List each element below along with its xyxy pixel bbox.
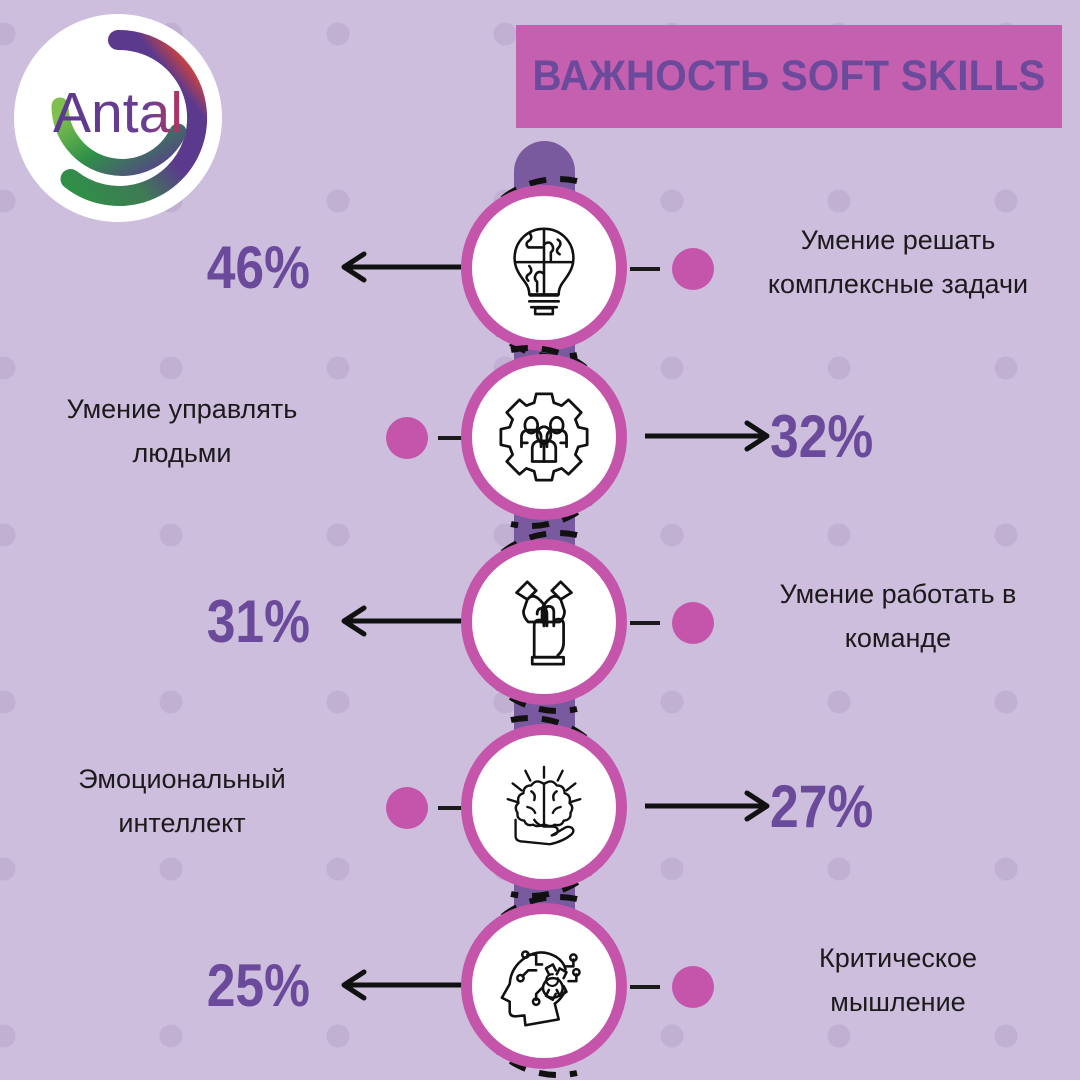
- bullet-dot: [672, 602, 714, 644]
- stat-label-line2: комплексные задачи: [748, 262, 1048, 306]
- teamwork-hands-icon: [495, 573, 593, 671]
- bullet-right-3: [626, 602, 756, 644]
- stat-label-5: Критическое мышление: [748, 936, 1048, 1024]
- stat-row-2: 32%: [0, 339, 1080, 529]
- stat-label-2: Умение управлять людьми: [32, 387, 332, 475]
- stat-label-line1: Эмоциональный: [32, 757, 332, 801]
- antal-logo: Antal: [14, 14, 222, 222]
- icon-medallion-3[interactable]: [461, 539, 627, 705]
- icon-medallion-1[interactable]: [461, 185, 627, 351]
- stat-label-line2: команде: [748, 616, 1048, 660]
- bullet-dot: [672, 966, 714, 1008]
- arrow-right-2: [645, 419, 775, 453]
- icon-medallion-2[interactable]: [461, 354, 627, 520]
- head-gear-circuit-icon: [495, 937, 593, 1035]
- antal-logo-mark: Antal: [14, 14, 222, 222]
- brain-in-hand-icon: [495, 758, 593, 856]
- stat-label-line2: мышление: [748, 980, 1048, 1024]
- stat-percent-5: 25%: [129, 944, 310, 1028]
- stat-percent-3: 31%: [129, 580, 310, 664]
- stat-label-line1: Умение решать: [748, 218, 1048, 262]
- arrow-left-1: [336, 250, 466, 284]
- stat-label-line2: интеллект: [32, 801, 332, 845]
- stat-percent-2: 32%: [770, 395, 951, 479]
- gear-people-icon: [495, 388, 593, 486]
- stat-label-line1: Критическое: [748, 936, 1048, 980]
- stat-row-4: 27%: [0, 709, 1080, 899]
- icon-medallion-5[interactable]: [461, 903, 627, 1069]
- stat-percent-4: 27%: [770, 765, 951, 849]
- title-band: ВАЖНОСТЬ SOFT SKILLS: [516, 25, 1062, 128]
- stat-label-1: Умение решать комплексные задачи: [748, 218, 1048, 306]
- stat-label-3: Умение работать в команде: [748, 572, 1048, 660]
- bullet-right-5: [626, 966, 756, 1008]
- stat-percent-1: 46%: [129, 226, 310, 310]
- antal-logo-text: Antal: [53, 81, 183, 145]
- stat-label-line1: Умение управлять: [32, 387, 332, 431]
- bullet-dot: [386, 417, 428, 459]
- bullet-right-1: [626, 248, 756, 290]
- icon-medallion-4[interactable]: [461, 724, 627, 890]
- lightbulb-puzzle-icon: [495, 219, 593, 317]
- arrow-left-5: [336, 968, 466, 1002]
- stat-label-4: Эмоциональный интеллект: [32, 757, 332, 845]
- arrow-right-4: [645, 789, 775, 823]
- bullet-dot: [386, 787, 428, 829]
- arrow-left-3: [336, 604, 466, 638]
- stat-label-line2: людьми: [32, 431, 332, 475]
- infographic-canvas: Antal ВАЖНОСТЬ SOFT SKILLS 46%: [0, 0, 1080, 1080]
- stat-row-3: 31%: [0, 524, 1080, 714]
- bullet-dot: [672, 248, 714, 290]
- stat-label-line1: Умение работать в: [748, 572, 1048, 616]
- page-title: ВАЖНОСТЬ SOFT SKILLS: [532, 52, 1045, 101]
- stat-row-5: 25%: [0, 888, 1080, 1078]
